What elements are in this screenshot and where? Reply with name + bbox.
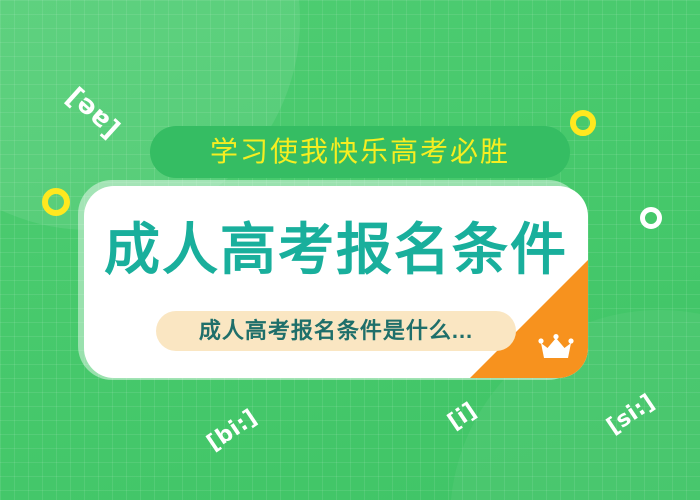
subtitle-text: 成人高考报名条件是什么... — [199, 320, 473, 342]
ring-white-right — [640, 207, 662, 229]
page-title: 成人高考报名条件 — [84, 222, 588, 278]
top-banner: 学习使我快乐高考必胜 — [150, 126, 570, 178]
ring-yellow-left — [42, 188, 70, 216]
main-card: 成人高考报名条件 成人高考报名条件是什么... — [84, 186, 588, 378]
poster-canvas: [ae] [bi:] [i] [si:] 学习使我快乐高考必胜 成人高考报名条件… — [0, 0, 700, 500]
crown-icon — [538, 334, 574, 362]
subtitle-pill: 成人高考报名条件是什么... — [156, 311, 516, 351]
ring-yellow-top — [570, 110, 596, 136]
top-banner-text: 学习使我快乐高考必胜 — [210, 138, 510, 166]
